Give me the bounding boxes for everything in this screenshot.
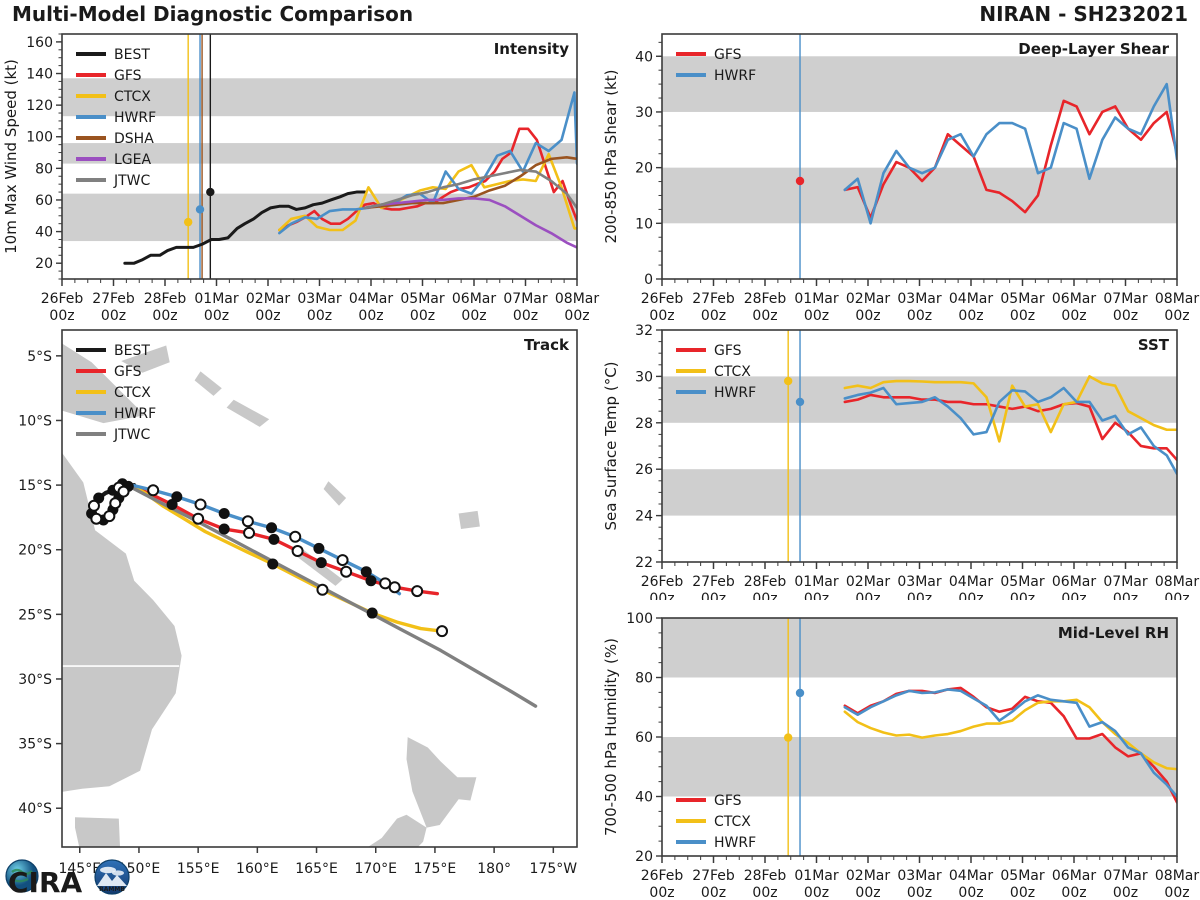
x-tick-sublabel: 00z xyxy=(804,885,829,900)
track-marker-12z xyxy=(148,485,158,495)
track-marker-12z xyxy=(119,487,129,497)
x-tick-label: 08Mar xyxy=(1155,574,1199,590)
marker-hwrf xyxy=(196,205,204,213)
track-marker-12z xyxy=(290,532,300,542)
y-tick-label: 20 xyxy=(635,161,653,177)
intensity-chart[interactable]: 2040608010012014016026Feb00z27Feb00z28Fe… xyxy=(0,24,600,324)
y-tick-label: 30 xyxy=(635,105,653,121)
y-tick-label: 80 xyxy=(635,671,653,687)
track-marker-00z xyxy=(361,567,371,577)
x-tick-label: 26Feb xyxy=(41,291,84,307)
x-tick-sublabel: 00z xyxy=(1164,885,1189,900)
panel-intensity: 2040608010012014016026Feb00z27Feb00z28Fe… xyxy=(0,24,600,324)
x-tick-label: 07Mar xyxy=(503,291,547,307)
lat-tick-label: 35°S xyxy=(18,737,52,753)
track-marker-12z xyxy=(437,626,447,636)
y-axis-label: 10m Max Wind Speed (kt) xyxy=(2,59,20,254)
shaded-band-0 xyxy=(662,469,1177,515)
y-axis-label: Sea Surface Temp (°C) xyxy=(602,361,620,530)
x-tick-label: 28Feb xyxy=(744,574,787,590)
marker-ctcx xyxy=(784,377,792,385)
y-tick-label: 40 xyxy=(635,790,653,806)
x-tick-sublabel: 00z xyxy=(1061,591,1086,600)
x-tick-sublabel: 00z xyxy=(649,885,674,900)
cira-wordmark: CIRA xyxy=(8,866,83,898)
x-tick-label: 04Mar xyxy=(949,574,993,590)
legend-label-hwrf: HWRF xyxy=(714,835,756,851)
legend-label-ctcx: CTCX xyxy=(114,89,151,105)
x-tick-sublabel: 00z xyxy=(1113,591,1138,600)
x-tick-sublabel: 00z xyxy=(804,591,829,600)
track-marker-00z xyxy=(268,559,278,569)
lon-tick-label: 160°E xyxy=(236,861,279,877)
fiji-landmass xyxy=(459,511,480,529)
panel-title-shear: Deep-Layer Shear xyxy=(1018,40,1169,58)
marker-ctcx xyxy=(184,218,192,226)
shear-chart[interactable]: 01020304026Feb00z27Feb00z28Feb00z01Mar00… xyxy=(600,24,1200,324)
legend-label-hwrf: HWRF xyxy=(714,385,756,401)
y-tick-label: 32 xyxy=(635,323,653,339)
y-tick-label: 40 xyxy=(635,49,653,65)
track-marker-00z xyxy=(314,543,324,553)
x-tick-label: 26Feb xyxy=(641,574,684,590)
x-tick-sublabel: 00z xyxy=(1010,885,1035,900)
cira-logo: CIRA RAMMB xyxy=(4,846,132,898)
page-title: Multi-Model Diagnostic Comparison xyxy=(12,2,413,26)
x-tick-label: 01Mar xyxy=(794,291,838,307)
x-tick-label: 08Mar xyxy=(1155,868,1199,884)
legend-label-ctcx: CTCX xyxy=(714,814,751,830)
y-tick-label: 22 xyxy=(635,555,653,571)
lat-tick-label: 10°S xyxy=(18,413,52,429)
x-tick-label: 07Mar xyxy=(1103,574,1147,590)
track-marker-00z xyxy=(219,524,229,534)
x-tick-label: 06Mar xyxy=(452,291,496,307)
shaded-band-0 xyxy=(662,737,1177,797)
legend-label-jtwc: JTWC xyxy=(113,173,151,189)
panel-title-rh: Mid-Level RH xyxy=(1058,624,1169,642)
x-tick-label: 28Feb xyxy=(744,291,787,307)
legend-label-gfs: GFS xyxy=(114,364,142,380)
panel-shear: 01020304026Feb00z27Feb00z28Feb00z01Mar00… xyxy=(600,24,1200,324)
marker-ctcx xyxy=(784,733,792,741)
x-tick-label: 08Mar xyxy=(555,291,599,307)
sst-chart[interactable]: 22242628303226Feb00z27Feb00z28Feb00z01Ma… xyxy=(600,322,1200,600)
lon-tick-label: 175°E xyxy=(414,861,457,877)
x-tick-label: 02Mar xyxy=(846,574,890,590)
marker-hwrf xyxy=(796,398,804,406)
y-tick-label: 30 xyxy=(635,369,653,385)
track-marker-12z xyxy=(196,499,206,509)
x-tick-label: 06Mar xyxy=(1052,291,1096,307)
y-tick-label: 26 xyxy=(635,462,653,478)
x-tick-label: 28Feb xyxy=(744,868,787,884)
track-marker-00z xyxy=(316,558,326,568)
x-tick-label: 27Feb xyxy=(692,291,735,307)
x-tick-label: 28Feb xyxy=(144,291,187,307)
x-tick-label: 06Mar xyxy=(1052,868,1096,884)
lat-tick-label: 15°S xyxy=(18,478,52,494)
legend-label-gfs: GFS xyxy=(714,793,742,809)
x-tick-sublabel: 00z xyxy=(752,885,777,900)
rammb-wordmark: RAMMB xyxy=(99,886,125,893)
y-tick-label: 120 xyxy=(26,98,53,114)
lat-tick-label: 5°S xyxy=(27,349,52,365)
x-tick-sublabel: 00z xyxy=(1061,885,1086,900)
x-tick-label: 27Feb xyxy=(92,291,135,307)
x-tick-label: 05Mar xyxy=(1000,574,1044,590)
y-tick-label: 20 xyxy=(635,849,653,865)
track-marker-12z xyxy=(380,578,390,588)
x-tick-sublabel: 00z xyxy=(752,591,777,600)
legend-rh: GFSCTCXHWRF xyxy=(676,793,756,851)
track-marker-00z xyxy=(219,509,229,519)
x-tick-label: 02Mar xyxy=(846,868,890,884)
x-tick-label: 02Mar xyxy=(846,291,890,307)
track-marker-12z xyxy=(341,567,351,577)
marker-gfs xyxy=(796,177,804,185)
x-tick-sublabel: 00z xyxy=(1164,591,1189,600)
track-marker-12z xyxy=(91,514,101,524)
marker-hwrf xyxy=(796,689,804,697)
y-tick-label: 28 xyxy=(635,416,653,432)
panel-track: 5°S10°S15°S20°S25°S30°S35°S40°S145°E150°… xyxy=(0,322,600,900)
panel-title-intensity: Intensity xyxy=(494,40,570,58)
y-tick-label: 160 xyxy=(26,35,53,51)
x-tick-sublabel: 00z xyxy=(701,885,726,900)
track-marker-00z xyxy=(367,608,377,618)
legend-label-dsha: DSHA xyxy=(114,131,154,147)
track-marker-12z xyxy=(293,546,303,556)
legend-label-gfs: GFS xyxy=(714,47,742,63)
legend-label-hwrf: HWRF xyxy=(714,68,756,84)
legend-label-ctcx: CTCX xyxy=(114,385,151,401)
track-marker-12z xyxy=(110,498,120,508)
x-tick-sublabel: 00z xyxy=(701,591,726,600)
lon-tick-label: 175°W xyxy=(530,861,578,877)
track-marker-00z xyxy=(269,534,279,544)
x-tick-label: 03Mar xyxy=(897,574,941,590)
shaded-band-0 xyxy=(662,168,1177,224)
track-marker-12z xyxy=(317,585,327,595)
legend-label-gfs: GFS xyxy=(114,68,142,84)
legend-label-best: BEST xyxy=(114,47,150,63)
x-tick-sublabel: 00z xyxy=(855,885,880,900)
legend-label-lgea: LGEA xyxy=(114,152,151,168)
x-tick-label: 01Mar xyxy=(794,574,838,590)
lon-tick-label: 155°E xyxy=(177,861,220,877)
track-marker-00z xyxy=(267,523,277,533)
lon-tick-label: 170°E xyxy=(354,861,397,877)
panel-title-track: Track xyxy=(524,336,570,354)
storm-title-block: NIRAN - SH232021 xyxy=(600,2,1188,26)
x-tick-label: 26Feb xyxy=(641,868,684,884)
y-tick-label: 80 xyxy=(35,161,53,177)
track-marker-12z xyxy=(193,514,203,524)
x-tick-label: 27Feb xyxy=(692,868,735,884)
x-tick-sublabel: 00z xyxy=(855,591,880,600)
storm-id-title: NIRAN - SH232021 xyxy=(979,2,1188,26)
track-map[interactable]: 5°S10°S15°S20°S25°S30°S35°S40°S145°E150°… xyxy=(0,322,600,900)
y-tick-label: 60 xyxy=(35,193,53,209)
x-tick-sublabel: 00z xyxy=(1010,591,1035,600)
track-marker-00z xyxy=(172,492,182,502)
x-tick-label: 05Mar xyxy=(1000,291,1044,307)
x-tick-label: 03Mar xyxy=(297,291,341,307)
lat-tick-label: 20°S xyxy=(18,543,52,559)
rh-chart[interactable]: 2040608010026Feb00z27Feb00z28Feb00z01Mar… xyxy=(600,600,1200,900)
panel-title-sst: SST xyxy=(1138,336,1170,354)
legend-label-best: BEST xyxy=(114,343,150,359)
y-tick-label: 40 xyxy=(35,225,53,241)
track-marker-00z xyxy=(366,576,376,586)
x-tick-sublabel: 00z xyxy=(1113,885,1138,900)
legend-label-hwrf: HWRF xyxy=(114,406,156,422)
figure-title-block: Multi-Model Diagnostic Comparison xyxy=(12,2,413,26)
x-tick-sublabel: 00z xyxy=(958,885,983,900)
lon-tick-label: 165°E xyxy=(295,861,338,877)
y-tick-label: 20 xyxy=(35,256,53,272)
track-marker-12z xyxy=(243,516,253,526)
x-tick-label: 06Mar xyxy=(1052,574,1096,590)
x-tick-label: 05Mar xyxy=(400,291,444,307)
y-tick-label: 140 xyxy=(26,67,53,83)
track-marker-12z xyxy=(338,555,348,565)
y-axis-label: 700-500 hPa Humidity (%) xyxy=(602,638,620,836)
x-tick-label: 01Mar xyxy=(194,291,238,307)
legend-label-hwrf: HWRF xyxy=(114,110,156,126)
cira-logo-graphic: CIRA RAMMB xyxy=(4,846,132,898)
x-tick-label: 04Mar xyxy=(949,291,993,307)
x-tick-label: 05Mar xyxy=(1000,868,1044,884)
lat-tick-label: 40°S xyxy=(18,801,52,817)
track-marker-12z xyxy=(412,586,422,596)
marker-best xyxy=(206,188,214,196)
x-tick-label: 07Mar xyxy=(1103,291,1147,307)
x-tick-label: 02Mar xyxy=(246,291,290,307)
shaded-band-1 xyxy=(662,56,1177,112)
x-tick-label: 27Feb xyxy=(692,574,735,590)
x-tick-sublabel: 00z xyxy=(958,591,983,600)
x-tick-sublabel: 00z xyxy=(907,885,932,900)
y-tick-label: 10 xyxy=(635,216,653,232)
y-tick-label: 24 xyxy=(635,509,653,525)
lon-tick-label: 180° xyxy=(477,861,511,877)
x-tick-label: 01Mar xyxy=(794,868,838,884)
lat-tick-label: 25°S xyxy=(18,607,52,623)
y-tick-label: 0 xyxy=(644,272,653,288)
x-tick-label: 03Mar xyxy=(897,868,941,884)
legend-sst: GFSCTCXHWRF xyxy=(676,343,756,401)
x-tick-label: 04Mar xyxy=(349,291,393,307)
legend-label-ctcx: CTCX xyxy=(714,364,751,380)
track-marker-12z xyxy=(244,528,254,538)
x-tick-label: 03Mar xyxy=(897,291,941,307)
legend-label-jtwc: JTWC xyxy=(113,427,151,443)
x-tick-label: 08Mar xyxy=(1155,291,1199,307)
track-marker-12z xyxy=(89,501,99,511)
y-axis-label: 200-850 hPa Shear (kt) xyxy=(602,70,620,244)
y-tick-label: 100 xyxy=(26,130,53,146)
x-tick-label: 04Mar xyxy=(949,868,993,884)
lat-tick-label: 30°S xyxy=(18,672,52,688)
panel-sst: 22242628303226Feb00z27Feb00z28Feb00z01Ma… xyxy=(600,322,1200,600)
y-tick-label: 60 xyxy=(635,730,653,746)
x-tick-sublabel: 00z xyxy=(649,591,674,600)
x-tick-label: 26Feb xyxy=(641,291,684,307)
panel-rh: 2040608010026Feb00z27Feb00z28Feb00z01Mar… xyxy=(600,600,1200,900)
x-tick-label: 07Mar xyxy=(1103,868,1147,884)
x-tick-sublabel: 00z xyxy=(907,591,932,600)
y-tick-label: 100 xyxy=(626,611,653,627)
track-marker-12z xyxy=(104,511,114,521)
legend-label-gfs: GFS xyxy=(714,343,742,359)
legend-intensity: BESTGFSCTCXHWRFDSHALGEAJTWC xyxy=(76,47,156,189)
